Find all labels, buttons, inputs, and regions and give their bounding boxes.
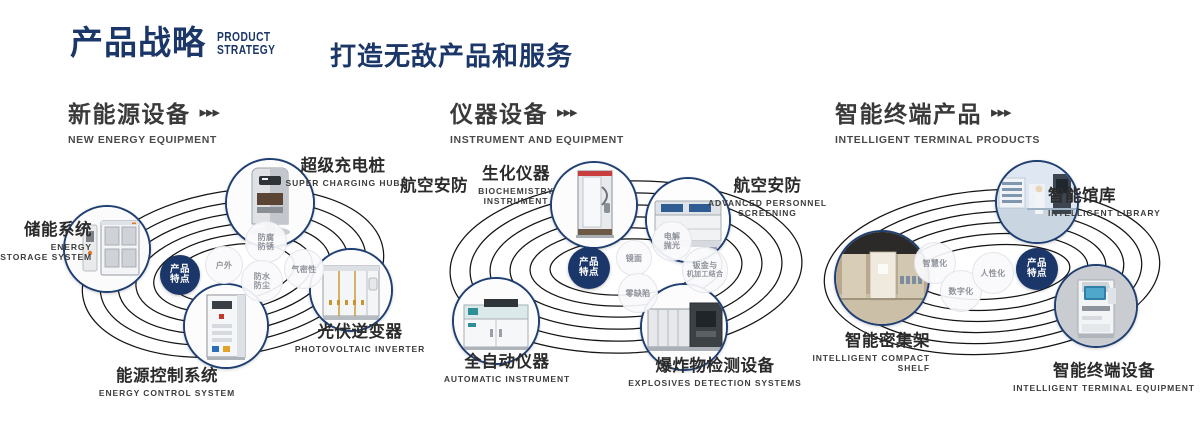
label-en: INTELLIGENT COMPACT SHELF: [790, 353, 930, 373]
feature-line1: 防腐: [258, 233, 275, 242]
label-cn: 能源控制系统: [72, 362, 262, 386]
label-en: ADVANCED PERSONNEL SCREENING: [700, 198, 835, 218]
feature-bubble-zero-defect: 零缺陷: [618, 273, 658, 313]
chevron-triple-icon: ▸▸▸: [991, 103, 1011, 121]
label-en: INTELLIGENT TERMINAL EQUIPMENT: [1010, 383, 1198, 393]
page-title-en: PRODUCT STRATEGY: [217, 31, 275, 57]
poster-canvas: 产品战略 PRODUCT STRATEGY 打造无敌产品和服务 新能源设备 ▸▸…: [0, 0, 1200, 422]
page-title-cn: 产品战略: [70, 26, 206, 59]
label-en: INTELLIGENT LIBRARY: [1048, 208, 1198, 218]
label-intelligent-compact-shelf: 智能密集架 INTELLIGENT COMPACT SHELF: [790, 327, 930, 373]
feature-bubble-waterproof: 防水 防尘: [241, 260, 283, 302]
feature-line2: 抛光: [664, 241, 681, 250]
label-intelligent-terminal-equipment: 智能终端设备 INTELLIGENT TERMINAL EQUIPMENT: [1010, 357, 1198, 393]
badge-line2: 特点: [579, 268, 599, 279]
page-title-en-line2: STRATEGY: [217, 44, 275, 57]
feature-line2: 防锈: [258, 242, 275, 251]
label-en: BIOCHEMISTRY INSTRUMENT: [452, 186, 580, 206]
label-automatic-instrument: 全自动仪器 AUTOMATIC INSTRUMENT: [424, 348, 590, 384]
node-intelligent-compact-shelf[interactable]: [834, 230, 930, 326]
section-title-cn-new-energy: 新能源设备: [68, 95, 191, 129]
label-cn: 储能系统: [0, 216, 92, 240]
section-title-en-intelligent-terminal: INTELLIGENT TERMINAL PRODUCTS: [835, 134, 1040, 146]
badge-line2: 特点: [170, 275, 190, 286]
label-en: EXPLOSIVES DETECTION SYSTEMS: [620, 378, 810, 388]
feature-bubble-mirror: 镜面: [616, 240, 652, 276]
feature-bubble-humanized: 人性化: [972, 252, 1014, 294]
label-en: SUPER CHARGING HUB: [278, 178, 408, 188]
feature-line1: 智慧化: [923, 259, 948, 268]
label-cn: 航空安防: [700, 172, 835, 196]
badge-product-features: 产品 特点: [160, 255, 200, 295]
feature-bubble-sheetmetal-machining: 钣金与 机加工结合: [682, 247, 728, 293]
feature-line1: 镜面: [626, 254, 643, 263]
label-en: ENERGY STORAGE SYSTEM: [0, 242, 92, 262]
section-header-intelligent-terminal: 智能终端产品 ▸▸▸ INTELLIGENT TERMINAL PRODUCTS: [835, 95, 1040, 146]
feature-line1: 气密性: [292, 265, 317, 274]
label-cn: 全自动仪器: [424, 348, 590, 372]
section-title-cn-instrument: 仪器设备: [450, 95, 548, 129]
self-service-kiosk-icon: [1056, 266, 1136, 346]
feature-bubble-airtightness: 气密性: [284, 249, 324, 289]
label-explosives-detection-systems: 爆炸物检测设备 EXPLOSIVES DETECTION SYSTEMS: [620, 352, 810, 388]
badge-product-features: 产品 特点: [568, 247, 610, 289]
label-cn: 光伏逆变器: [290, 318, 430, 342]
chevron-triple-icon: ▸▸▸: [200, 103, 220, 121]
feature-line1: 户外: [216, 261, 233, 270]
label-intelligent-library: 智能馆库 INTELLIGENT LIBRARY: [1048, 182, 1198, 218]
section-title-en-instrument: INSTRUMENT AND EQUIPMENT: [450, 134, 624, 146]
feature-line1: 人性化: [981, 269, 1006, 278]
feature-bubble-anticorrosion: 防腐 防锈: [245, 221, 287, 263]
section-header-instrument: 仪器设备 ▸▸▸ INSTRUMENT AND EQUIPMENT: [450, 95, 624, 146]
label-cn: 智能终端设备: [1010, 357, 1198, 381]
feature-line2: 防尘: [254, 281, 271, 290]
feature-bubble-outdoor: 户外: [205, 246, 243, 284]
feature-line1: 电解: [664, 232, 681, 241]
label-cn: 爆炸物检测设备: [620, 352, 810, 376]
label-cn: 超级充电桩: [278, 152, 408, 176]
section-title-en-new-energy: NEW ENERGY EQUIPMENT: [68, 134, 219, 146]
label-energy-control-system: 能源控制系统 ENERGY CONTROL SYSTEM: [72, 362, 262, 398]
feature-line1: 数字化: [949, 287, 974, 296]
label-en: ENERGY CONTROL SYSTEM: [72, 388, 262, 398]
feature-line1: 钣金与: [693, 261, 718, 270]
feature-line2: 机加工结合: [687, 270, 724, 279]
label-cn: 智能密集架: [790, 327, 930, 351]
section-header-new-energy: 新能源设备 ▸▸▸ NEW ENERGY EQUIPMENT: [68, 95, 219, 146]
label-biochemistry-instrument: 生化仪器 BIOCHEMISTRY INSTRUMENT: [452, 160, 580, 206]
compact-shelf-icon: [836, 232, 928, 324]
badge-line2: 特点: [1027, 269, 1047, 280]
page-subtitle: 打造无敌产品和服务: [330, 36, 573, 73]
label-en: PHOTOVOLTAIC INVERTER: [290, 344, 430, 354]
page-title: 产品战略 PRODUCT STRATEGY: [70, 26, 288, 59]
label-photovoltaic-inverter: 光伏逆变器 PHOTOVOLTAIC INVERTER: [290, 318, 430, 354]
badge-product-features: 产品 特点: [1016, 248, 1058, 290]
label-advanced-personnel-screening: 航空安防 ADVANCED PERSONNEL SCREENING: [700, 172, 835, 218]
label-cn: 生化仪器: [452, 160, 580, 184]
feature-line1: 零缺陷: [626, 289, 651, 298]
node-intelligent-terminal-equipment[interactable]: [1054, 264, 1138, 348]
label-energy-storage-system: 储能系统 ENERGY STORAGE SYSTEM: [0, 216, 92, 262]
feature-line1: 防水: [254, 272, 271, 281]
label-en: AUTOMATIC INSTRUMENT: [424, 374, 590, 384]
label-super-charging-hub: 超级充电桩 SUPER CHARGING HUB: [278, 152, 408, 188]
label-cn: 智能馆库: [1048, 182, 1198, 206]
section-title-cn-intelligent-terminal: 智能终端产品: [835, 95, 982, 129]
chevron-triple-icon: ▸▸▸: [557, 103, 577, 121]
